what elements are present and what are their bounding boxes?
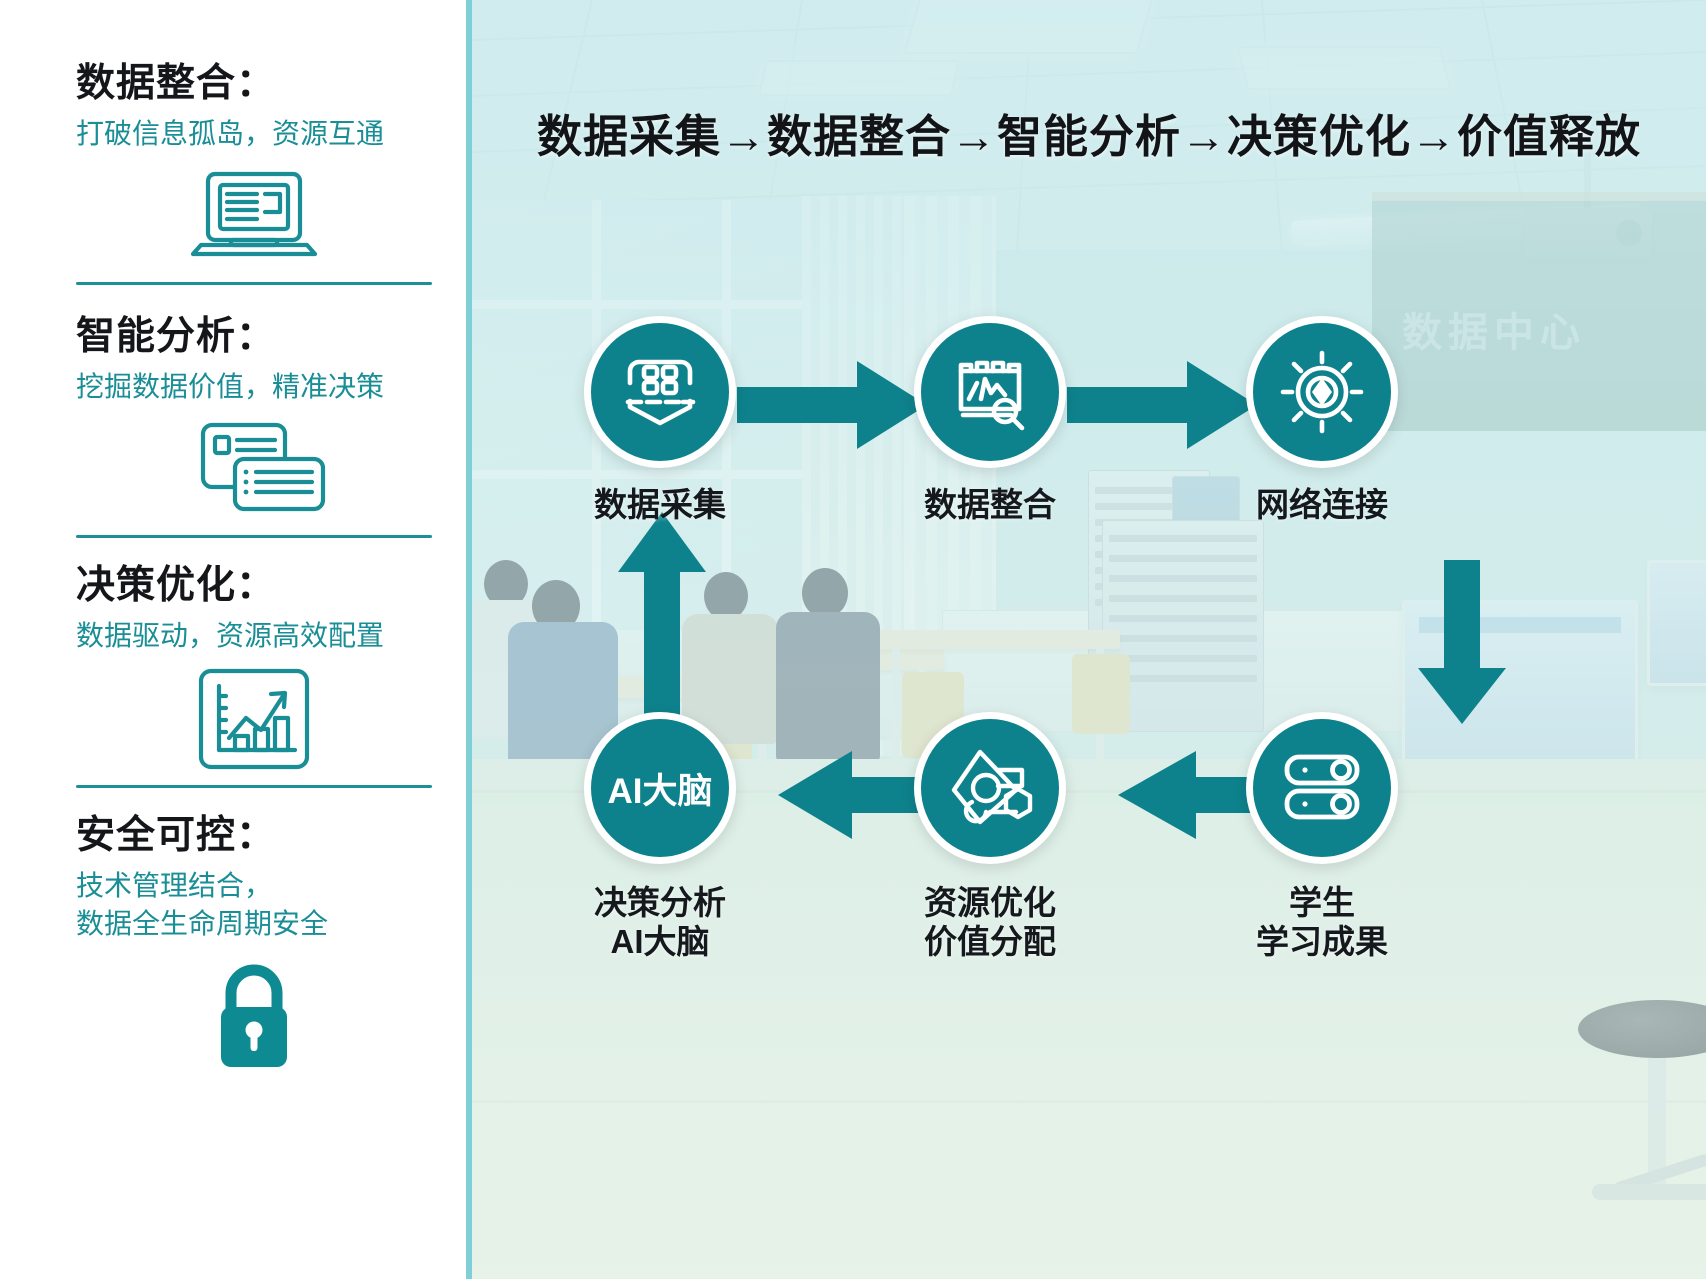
feature-title: 智能分析： xyxy=(76,315,432,360)
feature-subtitle-line2: 数据全生命周期安全 xyxy=(76,906,432,942)
network-hub-icon xyxy=(1277,347,1367,437)
feature-divider xyxy=(76,785,432,788)
feature-title: 安全可控： xyxy=(76,814,432,859)
lock-icon xyxy=(76,956,432,1074)
feature-divider xyxy=(76,282,432,285)
feature-title: 决策优化： xyxy=(76,564,432,609)
stacked-cards-icon xyxy=(76,419,432,519)
resource-optimize-icon xyxy=(946,744,1034,832)
node-data-collection[interactable] xyxy=(584,316,736,468)
server-database-icon xyxy=(1279,751,1365,825)
node-label-data-collection: 数据采集 xyxy=(530,486,790,525)
feature-subtitle: 数据驱动，资源高效配置 xyxy=(76,618,432,654)
features-sidebar: 数据整合： 打破信息孤岛，资源互通 智能分析： 挖掘数据 xyxy=(0,0,472,1279)
node-students[interactable] xyxy=(1246,712,1398,864)
node-label-network-connection: 网络连接 xyxy=(1192,486,1452,525)
flow-title: 数据采集→数据整合→智能分析→决策优化→价值释放 xyxy=(472,100,1706,165)
infographic-page: 数据整合： 打破信息孤岛，资源互通 智能分析： 挖掘数据 xyxy=(0,0,1706,1279)
feature-security-control: 安全可控： 技术管理结合， 数据全生命周期安全 xyxy=(76,814,432,1075)
node-inner-text: AI大脑 xyxy=(607,763,712,814)
process-flow-diagram: 数据采集→数据整合→智能分析→决策优化→价值释放 xyxy=(472,0,1706,1279)
feature-title: 数据整合： xyxy=(76,62,432,107)
arrow-network-to-students xyxy=(1412,560,1512,730)
node-ai-brain[interactable]: AI大脑 xyxy=(584,712,736,864)
classroom-photo-panel: 数据中心 xyxy=(472,0,1706,1279)
node-label-data-integration: 数据整合 xyxy=(860,486,1120,525)
feature-smart-analysis: 智能分析： 挖掘数据价值，精准决策 xyxy=(76,315,432,538)
node-resource-optimization[interactable] xyxy=(914,712,1066,864)
arrow-integrate-to-network xyxy=(1067,355,1262,455)
bar-chart-trend-icon xyxy=(76,669,432,769)
node-data-integration[interactable] xyxy=(914,316,1066,468)
feature-divider xyxy=(76,535,432,538)
feature-decision-optimization: 决策优化： 数据驱动，资源高效配置 xyxy=(76,564,432,787)
laptop-document-icon xyxy=(76,166,432,266)
feature-data-integration: 数据整合： 打破信息孤岛，资源互通 xyxy=(76,62,432,285)
node-network-connection[interactable] xyxy=(1246,316,1398,468)
arrow-collect-to-integrate xyxy=(737,355,932,455)
node-label-students: 学生 学习成果 xyxy=(1192,884,1452,962)
chart-search-icon xyxy=(947,349,1033,435)
feature-subtitle-line1: 技术管理结合， xyxy=(76,868,432,904)
node-label-ai-brain: 决策分析 AI大脑 xyxy=(530,884,790,962)
feature-subtitle: 打破信息孤岛，资源互通 xyxy=(76,116,432,152)
feature-subtitle: 挖掘数据价值，精准决策 xyxy=(76,369,432,405)
node-label-resource-optimization: 资源优化 价值分配 xyxy=(860,884,1120,962)
fingerprint-scan-icon xyxy=(617,349,703,435)
